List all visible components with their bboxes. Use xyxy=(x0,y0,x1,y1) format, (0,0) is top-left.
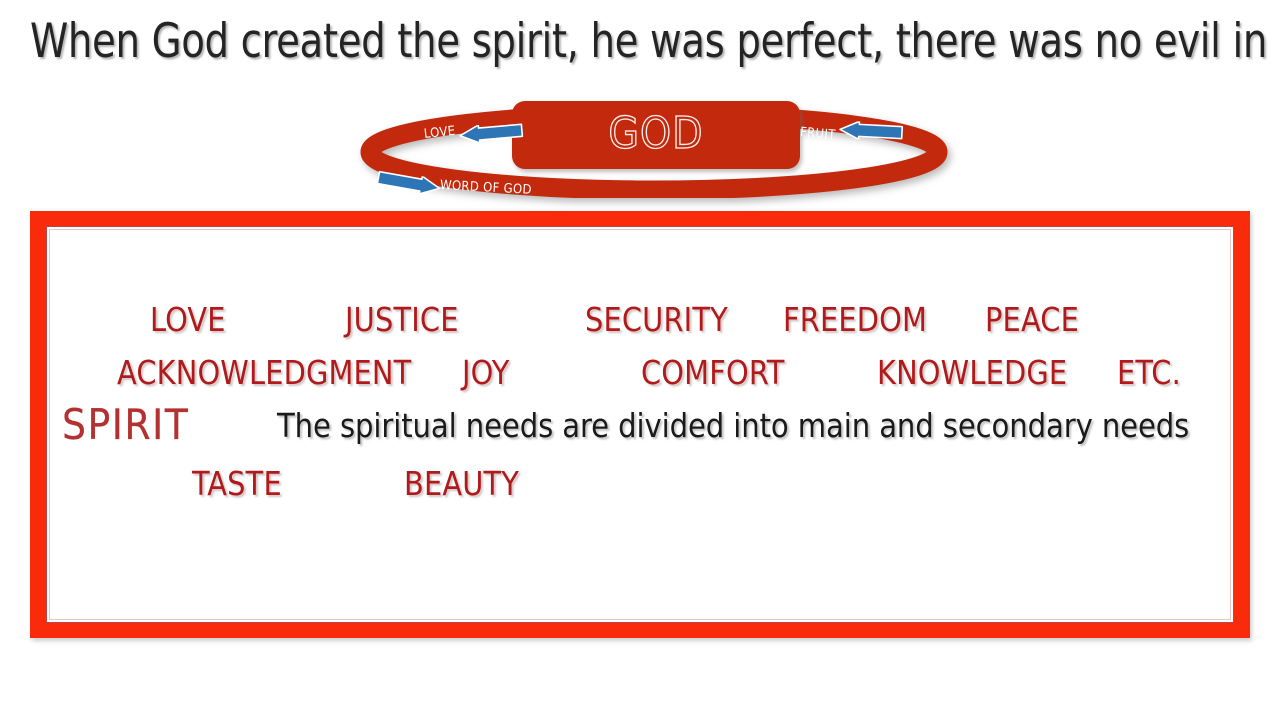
need-item: ETC. xyxy=(1117,354,1181,392)
need-item: BEAUTY xyxy=(404,465,519,503)
need-item: COMFORT xyxy=(641,354,784,392)
need-item: JUSTICE xyxy=(345,301,459,339)
need-item: LOVE xyxy=(150,301,226,339)
need-item: JOY xyxy=(462,354,510,392)
need-item: PEACE xyxy=(985,301,1079,339)
god-box: GOD xyxy=(512,101,800,169)
god-label: GOD xyxy=(512,108,800,160)
need-item: ACKNOWLEDGMENT xyxy=(117,354,411,392)
need-item: SECURITY xyxy=(585,301,728,339)
page-title: When God created the spirit, he was perf… xyxy=(30,12,1165,74)
need-item: FREEDOM xyxy=(783,301,927,339)
needs-description-sentence: The spiritual needs are divided into mai… xyxy=(277,406,1189,446)
god-cycle-diagram: GOD LOVE FRUIT WORD OF GOD xyxy=(352,96,956,208)
need-item: KNOWLEDGE xyxy=(877,354,1067,392)
need-item: TASTE xyxy=(192,465,282,503)
ring-label-fruit: FRUIT xyxy=(799,126,836,143)
slide-canvas: When God created the spirit, he was perf… xyxy=(0,0,1280,720)
spirit-category-label: SPIRIT xyxy=(62,401,189,449)
arrow-left-icon xyxy=(838,120,905,141)
